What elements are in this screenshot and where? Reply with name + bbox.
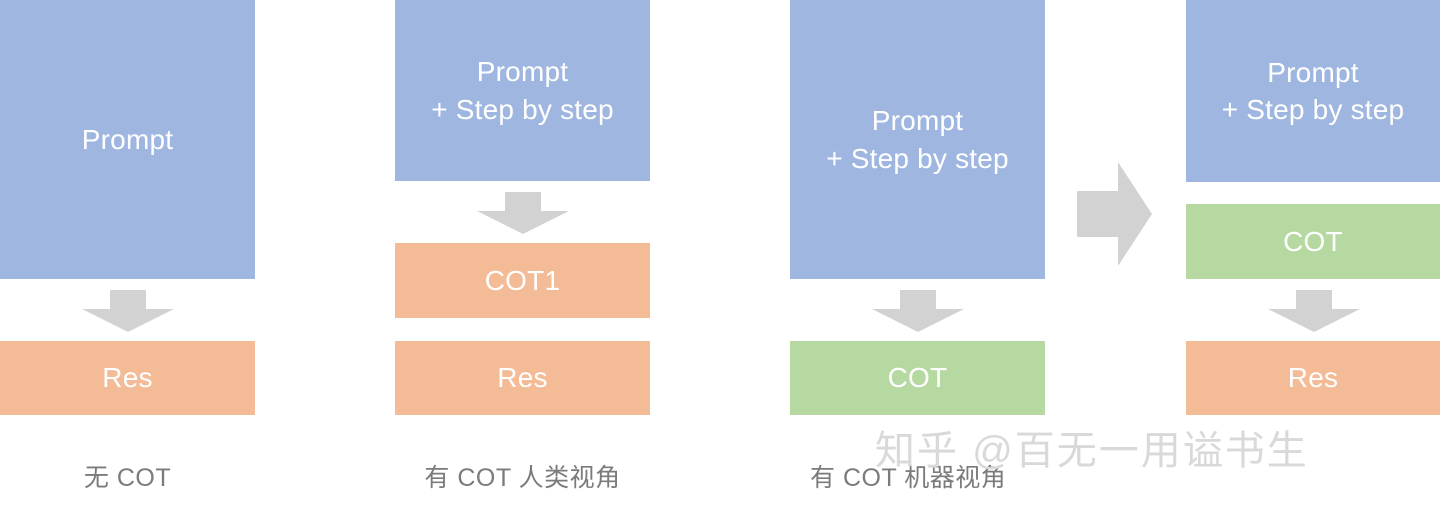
caption-cot-machine: 有 COT 机器视角 bbox=[790, 458, 1210, 494]
arrow-right-icon bbox=[1077, 162, 1152, 266]
block-prompt-no-cot: Prompt bbox=[0, 0, 255, 279]
arrow-down-icon bbox=[477, 192, 569, 234]
arrow-down-icon bbox=[1268, 290, 1360, 332]
arrow-down-icon bbox=[872, 290, 964, 332]
block-result-cot-human: Res bbox=[395, 341, 650, 415]
caption-no-cot: 无 COT bbox=[0, 458, 255, 494]
block-result-no-cot: Res bbox=[0, 341, 255, 415]
diagram-canvas: Prompt Res 无 COT Prompt + Step by step C… bbox=[0, 0, 1440, 514]
block-cot1-cot-human: COT1 bbox=[395, 243, 650, 318]
block-prompt-cot-machine-stage2: Prompt + Step by step bbox=[1186, 0, 1440, 182]
block-prompt-cot-human: Prompt + Step by step bbox=[395, 0, 650, 181]
block-prompt-cot-machine-stage1: Prompt + Step by step bbox=[790, 0, 1045, 279]
block-result-cot-machine-stage2: Res bbox=[1186, 341, 1440, 415]
block-cot-cot-machine-stage1: COT bbox=[790, 341, 1045, 415]
caption-cot-human: 有 COT 人类视角 bbox=[395, 458, 650, 494]
arrow-down-icon bbox=[82, 290, 174, 332]
block-cot-cot-machine-stage2: COT bbox=[1186, 204, 1440, 279]
